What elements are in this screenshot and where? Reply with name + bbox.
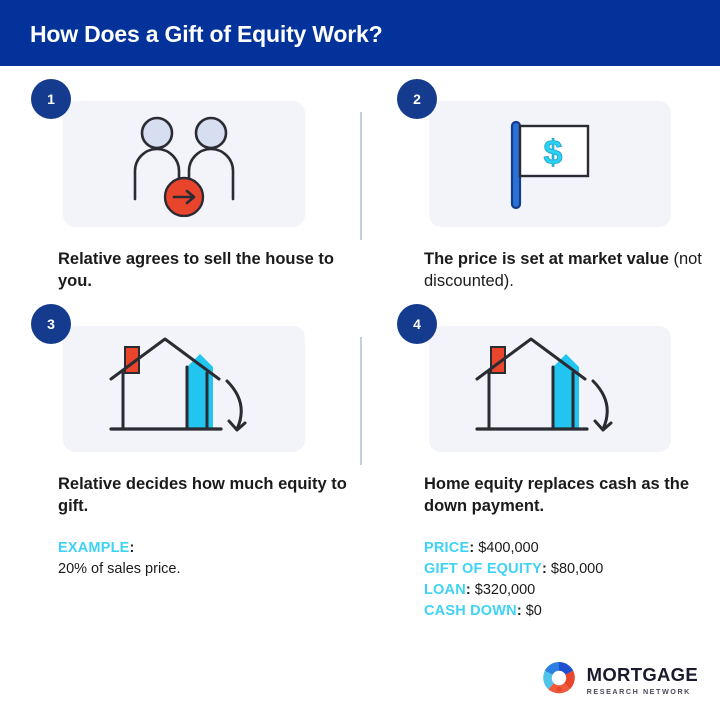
step-2-badge: 2 — [397, 79, 437, 119]
cash-down-value: $0 — [526, 603, 542, 619]
step-4-badge: 4 — [397, 304, 437, 344]
cash-down-colon: : — [517, 603, 522, 619]
detail-line-gift: GIFT OF EQUITY: $80,000 — [424, 559, 714, 580]
step-3: 3 — [58, 326, 358, 580]
step-2: 2 $ The price is set at market value (no… — [424, 101, 714, 293]
step-1-caption-bold: Relative agrees to sell the house to you… — [58, 250, 334, 290]
loan-label: LOAN — [424, 582, 466, 598]
step-3-card: 3 — [63, 326, 305, 452]
detail-line-loan: LOAN: $320,000 — [424, 580, 714, 601]
header-bar: How Does a Gift of Equity Work? — [0, 0, 720, 66]
step-2-card: 2 $ — [429, 101, 671, 227]
step-1: 1 Relati — [58, 101, 358, 293]
gift-label: GIFT OF EQUITY — [424, 561, 542, 577]
steps-grid: 1 Relati — [0, 66, 720, 646]
step-4: 4 Home e — [424, 326, 714, 622]
detail-line-example: EXAMPLE: — [58, 538, 358, 559]
step-4-card: 4 — [429, 326, 671, 452]
house-equity-arrow-icon — [429, 326, 671, 452]
price-value: $400,000 — [478, 540, 538, 556]
logo-name: MORTGAGE — [587, 666, 698, 685]
step-4-caption-bold: Home equity replaces cash as the down pa… — [424, 475, 689, 515]
price-label: PRICE — [424, 540, 469, 556]
step-2-caption: The price is set at market value (not di… — [424, 249, 714, 293]
loan-value: $320,000 — [475, 582, 535, 598]
example-colon: : — [130, 540, 135, 556]
gift-colon: : — [542, 561, 547, 577]
flag-dollar-icon: $ — [429, 101, 671, 227]
logo-subtitle: RESEARCH NETWORK — [587, 688, 698, 695]
detail-line-cash-down: CASH DOWN: $0 — [424, 601, 714, 622]
cash-down-label: CASH DOWN — [424, 603, 517, 619]
svg-text:$: $ — [544, 134, 563, 172]
brand-logo: MORTGAGE RESEARCH NETWORK — [540, 659, 698, 702]
step-2-caption-bold: The price is set at market value — [424, 250, 669, 268]
step-3-caption-bold: Relative decides how much equity to gift… — [58, 475, 347, 515]
example-label: EXAMPLE — [58, 540, 130, 556]
house-equity-arrow-icon — [63, 326, 305, 452]
gauge-circle-icon — [540, 659, 578, 702]
step-4-details: PRICE: $400,000 GIFT OF EQUITY: $80,000 … — [424, 538, 714, 622]
step-4-caption: Home equity replaces cash as the down pa… — [424, 474, 714, 518]
detail-line-example-value: 20% of sales price. — [58, 559, 358, 580]
page-title: How Does a Gift of Equity Work? — [30, 21, 382, 48]
step-3-badge: 3 — [31, 304, 71, 344]
loan-colon: : — [466, 582, 471, 598]
step-3-details: EXAMPLE: 20% of sales price. — [58, 538, 358, 580]
step-1-caption: Relative agrees to sell the house to you… — [58, 249, 358, 293]
two-people-with-arrow-icon — [63, 101, 305, 227]
detail-line-price: PRICE: $400,000 — [424, 538, 714, 559]
gift-value: $80,000 — [551, 561, 603, 577]
price-colon: : — [469, 540, 474, 556]
step-1-card: 1 — [63, 101, 305, 227]
step-3-caption: Relative decides how much equity to gift… — [58, 474, 358, 518]
step-1-badge: 1 — [31, 79, 71, 119]
logo-text-group: MORTGAGE RESEARCH NETWORK — [587, 666, 698, 695]
infographic-root: How Does a Gift of Equity Work? 1 — [0, 0, 720, 720]
